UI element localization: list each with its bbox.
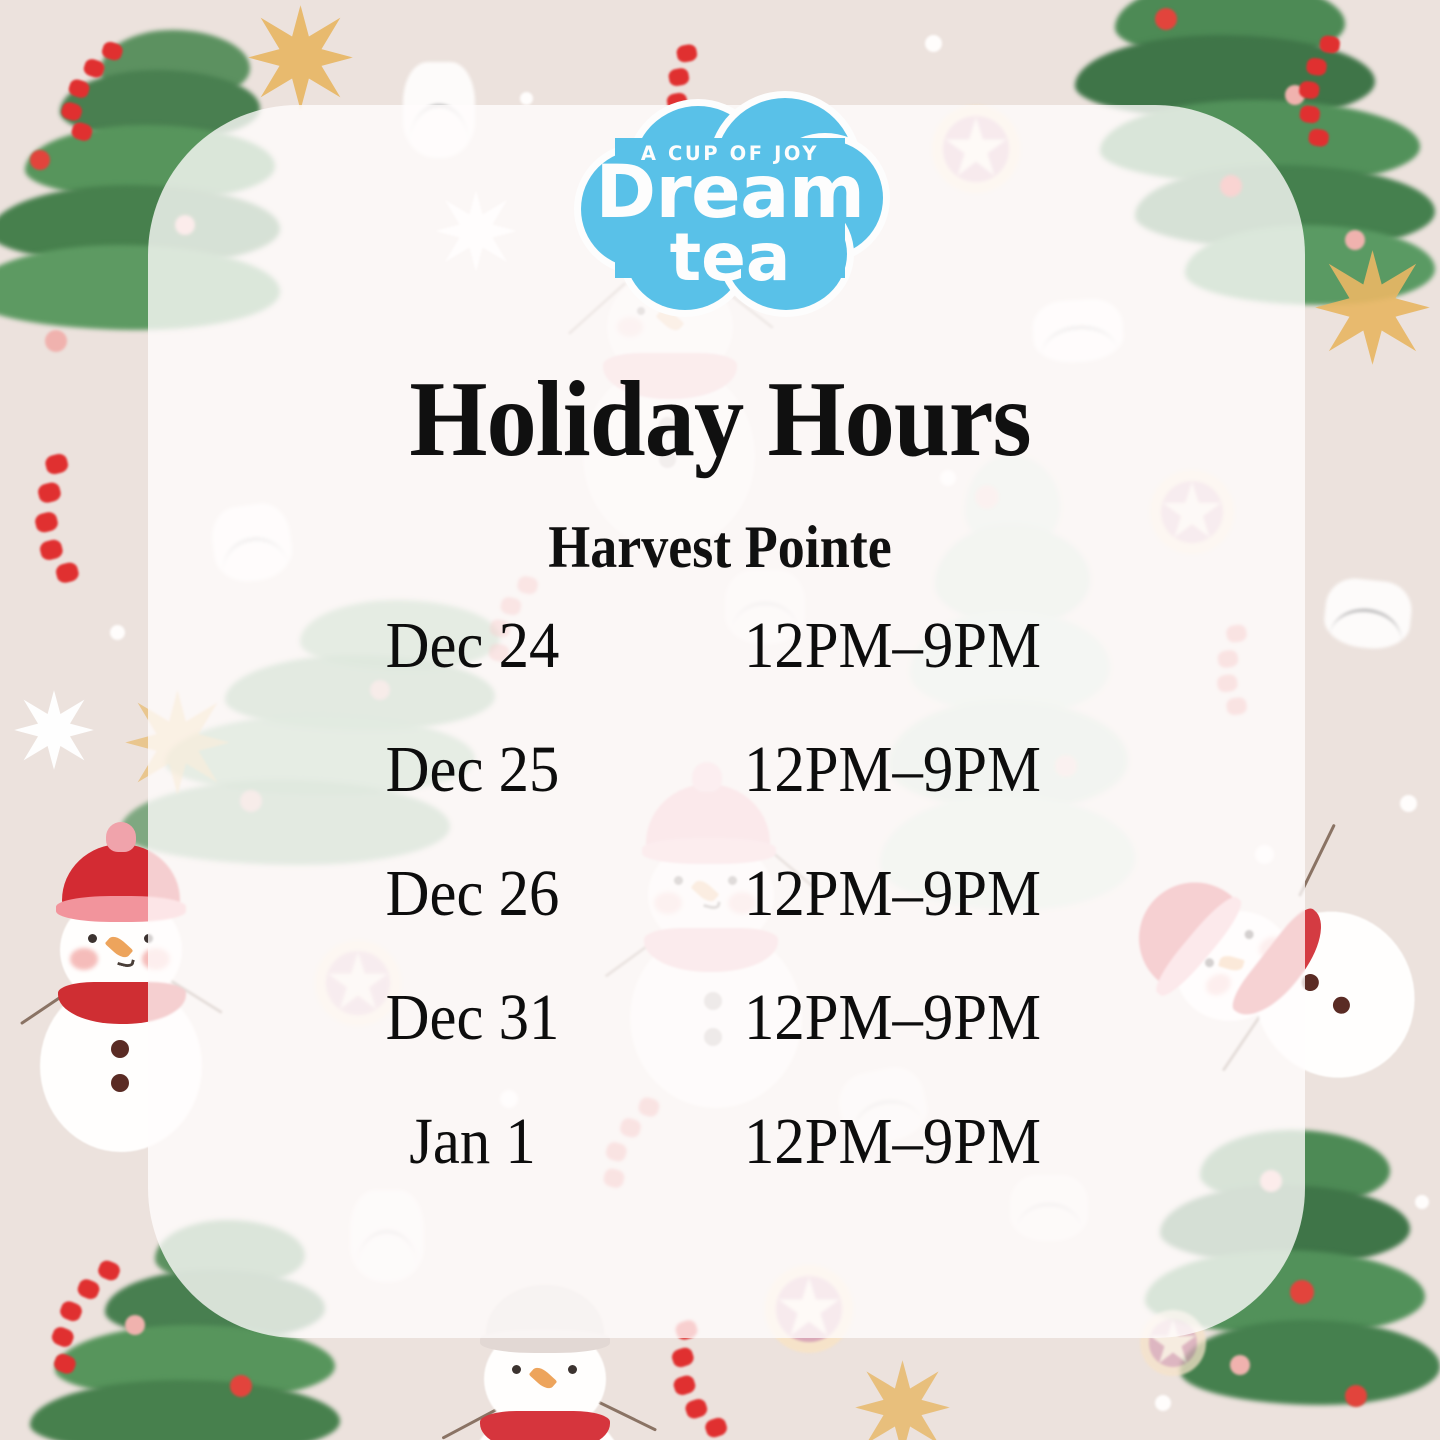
hours-row: Dec 24 12PM–9PM: [300, 608, 1140, 732]
hours-date: Jan 1: [314, 1104, 631, 1180]
dream-tea-logo: A CUP OF JOY Dream tea: [575, 98, 885, 313]
hours-time: 12PM–9PM: [665, 732, 1120, 808]
hours-row: Dec 25 12PM–9PM: [300, 732, 1140, 856]
location-subtitle: Harvest Pointe: [72, 517, 1368, 577]
hours-time: 12PM–9PM: [665, 608, 1120, 684]
holiday-hours-list: Dec 24 12PM–9PM Dec 25 12PM–9PM Dec 26 1…: [300, 608, 1140, 1228]
hours-date: Dec 31: [314, 980, 631, 1056]
hours-row: Dec 31 12PM–9PM: [300, 980, 1140, 1104]
hours-time: 12PM–9PM: [665, 856, 1120, 932]
hours-row: Dec 26 12PM–9PM: [300, 856, 1140, 980]
hours-date: Dec 26: [314, 856, 631, 932]
page-title: Holiday Hours: [50, 366, 1389, 474]
content-layer: A CUP OF JOY Dream tea Holiday Hours Har…: [0, 0, 1440, 1440]
hours-time: 12PM–9PM: [665, 980, 1120, 1056]
hours-date: Dec 25: [314, 732, 631, 808]
hours-time: 12PM–9PM: [665, 1104, 1120, 1180]
logo-word-tea: tea: [575, 225, 885, 291]
hours-date: Dec 24: [314, 608, 631, 684]
hours-row: Jan 1 12PM–9PM: [300, 1104, 1140, 1228]
holiday-hours-poster: A CUP OF JOY Dream tea Holiday Hours Har…: [0, 0, 1440, 1440]
